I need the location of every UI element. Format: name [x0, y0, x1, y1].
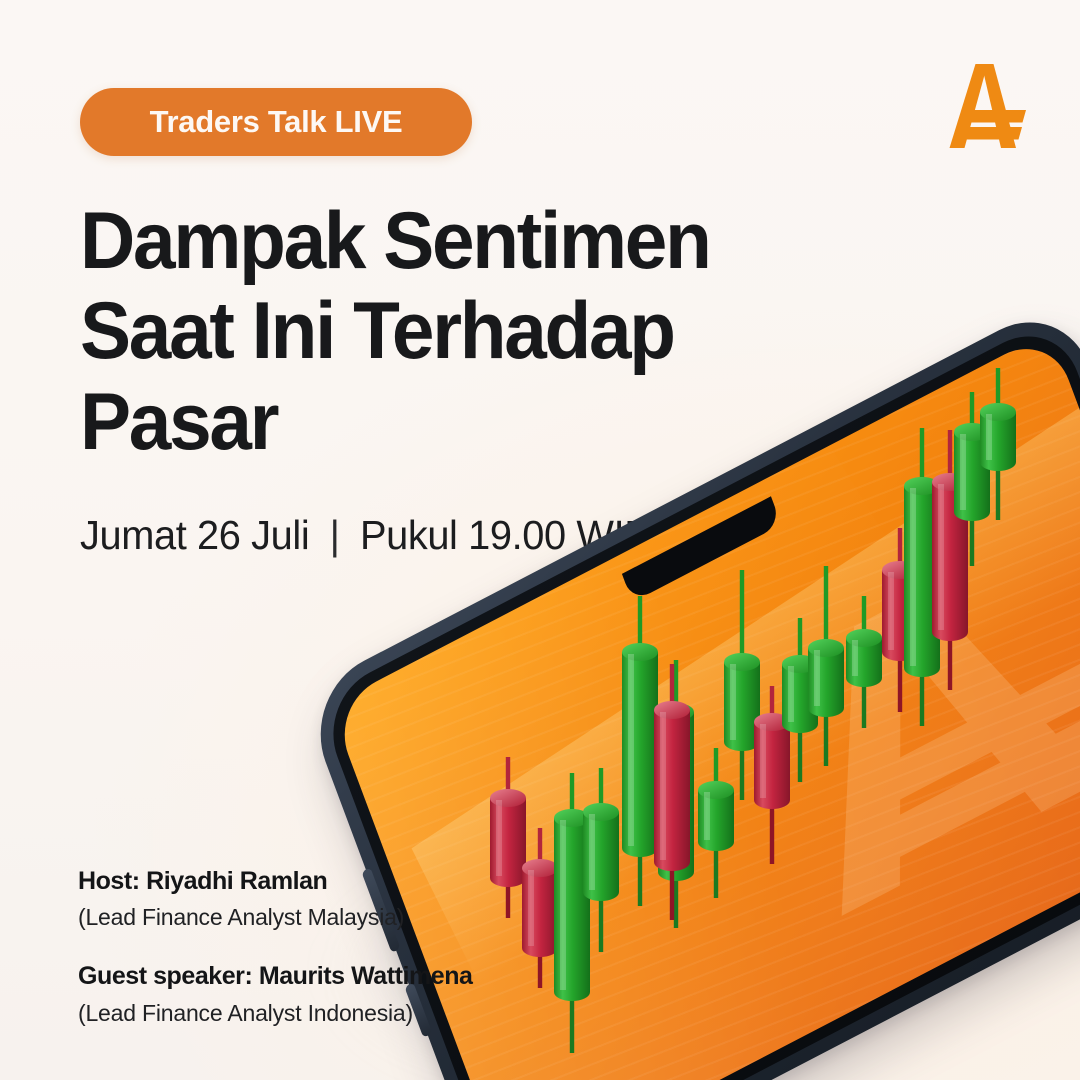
guest-name: Guest speaker: Maurits Wattimena — [78, 961, 598, 992]
host-name: Host: Riyadhi Ramlan — [78, 866, 598, 897]
host-credit: Host: Riyadhi Ramlan (Lead Finance Analy… — [78, 866, 598, 933]
schedule-separator: | — [320, 512, 349, 559]
brand-logo[interactable] — [934, 58, 1038, 154]
event-schedule: Jumat 26 Juli | Pukul 19.00 WIB — [80, 512, 650, 559]
host-role: (Lead Finance Analyst Malaysia) — [78, 901, 598, 933]
traders-talk-live-badge[interactable]: Traders Talk LIVE — [80, 88, 472, 156]
speaker-credits: Host: Riyadhi Ramlan (Lead Finance Analy… — [78, 866, 598, 1029]
guest-role: (Lead Finance Analyst Indonesia) — [78, 997, 598, 1029]
headline-line-2: Saat Ini Terhadap — [80, 286, 798, 376]
badge-label: Traders Talk LIVE — [150, 104, 403, 140]
headline-line-3: Pasar — [80, 377, 798, 467]
headline-line-1: Dampak Sentimen — [80, 196, 798, 286]
guest-credit: Guest speaker: Maurits Wattimena (Lead F… — [78, 961, 598, 1028]
event-date: Jumat 26 Juli — [80, 512, 309, 558]
ajaib-a-logo-icon — [934, 58, 1038, 154]
promo-poster: Traders Talk LIVE Dampak Sentimen Saat I… — [0, 0, 1080, 1080]
page-title: Dampak Sentimen Saat Ini Terhadap Pasar — [80, 196, 798, 467]
